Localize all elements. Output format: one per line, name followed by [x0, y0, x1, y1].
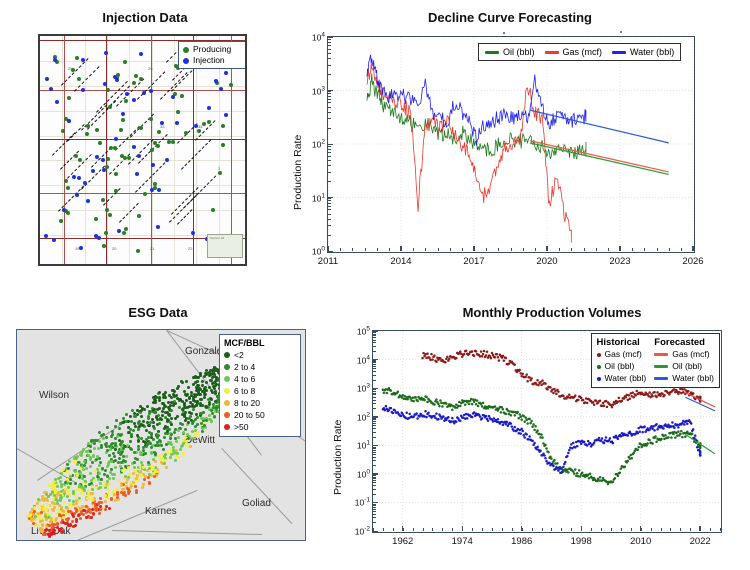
esg-well-dot [68, 524, 71, 527]
producing-well-marker [132, 81, 136, 85]
legend-label-producing: Producing [193, 44, 231, 55]
esg-well-dot [187, 421, 190, 424]
x-axis-minor-tick [512, 528, 513, 531]
legend-item-water: Water (bbl) [612, 47, 674, 57]
y-axis-minor-tick [373, 437, 376, 438]
x-axis-minor-tick [401, 248, 402, 251]
esg-well-dot [158, 422, 161, 425]
y-axis-minor-tick [373, 394, 376, 395]
x-axis-minor-tick [532, 528, 533, 531]
esg-well-dot [36, 524, 39, 527]
esg-well-dot [107, 492, 110, 495]
y-axis-minor-tick [373, 335, 376, 336]
x-axis-minor-tick [621, 528, 622, 531]
county-boundary-line [221, 448, 292, 524]
esg-well-dot [134, 485, 137, 488]
producing-well-marker [66, 186, 70, 190]
esg-well-dot [175, 440, 178, 443]
producing-well-marker [124, 227, 128, 231]
x-axis-minor-tick [657, 248, 658, 251]
esg-well-dot [104, 500, 107, 503]
y-axis-minor-tick [328, 165, 331, 166]
y-axis-minor-tick [373, 389, 376, 390]
esg-well-dot [116, 491, 119, 494]
esg-well-dot [89, 465, 92, 468]
producing-well-marker [105, 165, 109, 169]
esg-well-dot [171, 389, 174, 392]
esg-well-dot [69, 475, 72, 478]
injection-well-marker [194, 124, 198, 128]
esg-well-dot [210, 420, 213, 423]
producing-well-marker [114, 172, 118, 176]
esg-legend-rows: <22 to 44 to 66 to 88 to 2020 to 50>50 [224, 349, 296, 433]
esg-well-dot [130, 433, 133, 436]
decline-y-axis-label: Production Rate [292, 135, 304, 210]
x-axis-minor-tick [620, 248, 621, 251]
esg-well-dot [169, 421, 172, 424]
esg-legend-item-3: 6 to 8 [224, 385, 296, 397]
esg-bin-marker-icon [224, 424, 230, 430]
x-axis-minor-tick [641, 528, 642, 531]
map-faint-line [40, 86, 245, 87]
y-axis-minor-tick [328, 219, 331, 220]
esg-well-dot [114, 444, 117, 447]
esg-well-dot [51, 531, 54, 534]
legend-label-historical-gas: Gas (mcf) [605, 349, 642, 360]
esg-well-dot [79, 499, 82, 502]
y-axis-minor-tick [328, 206, 331, 207]
esg-well-dot [71, 520, 74, 523]
injection-map-inset: Section 22 [207, 234, 243, 258]
monthly-y-axis-label: Production Rate [332, 420, 344, 495]
map-faint-line [85, 36, 86, 264]
producing-well-marker [74, 154, 78, 158]
y-axis-minor-tick [373, 380, 376, 381]
y-axis-minor-tick [328, 112, 331, 113]
y-axis-minor-tick [373, 351, 376, 352]
esg-well-dot [139, 451, 142, 454]
fracture-trace [116, 78, 144, 106]
producing-well-marker [114, 189, 118, 193]
producing-well-marker [106, 88, 110, 92]
y-axis-minor-tick [328, 42, 331, 43]
esg-well-dot [192, 376, 195, 379]
esg-well-dot [122, 447, 125, 450]
esg-well-dot [148, 441, 151, 444]
esg-well-dot [179, 448, 182, 451]
esg-well-dot [79, 517, 82, 520]
y-axis-minor-tick [373, 502, 376, 503]
esg-well-dot [104, 494, 107, 497]
x-axis-minor-tick [611, 528, 612, 531]
esg-well-dot [124, 465, 127, 468]
historical-gas-dot-icon [597, 353, 601, 357]
legend-label-historical-oil: Oil (bbl) [605, 361, 635, 372]
y-axis-tick-label: 101 [357, 440, 370, 451]
producing-well-marker [136, 249, 140, 253]
esg-well-dot [144, 452, 147, 455]
speck-decoration-b [620, 31, 622, 33]
esg-well-dot [173, 400, 176, 403]
y-axis-minor-tick [373, 447, 376, 448]
esg-well-dot [128, 473, 131, 476]
esg-well-dot [89, 472, 92, 475]
producing-well-marker [101, 198, 105, 202]
x-axis-minor-tick [442, 528, 443, 531]
esg-well-dot [98, 440, 101, 443]
esg-well-dot [66, 470, 69, 473]
y-axis-tick-label: 103 [312, 85, 325, 96]
x-axis-minor-tick [601, 528, 602, 531]
y-axis-tick-label: 10-1 [355, 497, 370, 508]
esg-well-dot [147, 461, 150, 464]
esg-well-dot [173, 431, 176, 434]
historical-oil-dot-icon [597, 365, 601, 369]
forecast-oil-line-icon [654, 365, 668, 368]
producing-well-marker [156, 144, 160, 148]
esg-well-dot [131, 409, 134, 412]
producing-well-marker [134, 74, 138, 78]
esg-legend-item-5: 20 to 50 [224, 409, 296, 421]
esg-well-dot [110, 468, 113, 471]
y-axis-minor-tick [328, 172, 331, 173]
y-axis-minor-tick [328, 53, 331, 54]
esg-well-dot [43, 491, 46, 494]
decline-plot-area[interactable]: Oil (bbl) Gas (mcf) Water (bbl) 10010110… [327, 36, 695, 253]
y-axis-minor-tick [373, 452, 376, 453]
esg-well-dot [147, 476, 150, 479]
x-axis-minor-tick [365, 248, 366, 251]
x-axis-tick-label: 2026 [682, 256, 703, 267]
x-axis-tick-label: 2022 [690, 536, 711, 547]
y-axis-tick-label: 101 [312, 192, 325, 203]
esg-map[interactable]: GonzalesWilsonDeWittKarnesGoliadLive Oak… [16, 329, 306, 541]
esg-well-dot [129, 415, 132, 418]
esg-bin-label: 6 to 8 [234, 385, 255, 397]
injection-well-marker [103, 82, 107, 86]
x-axis-minor-tick [571, 248, 572, 251]
map-faint-line [174, 36, 175, 264]
y-axis-minor-tick [373, 393, 376, 394]
esg-well-dot [158, 399, 161, 402]
esg-well-dot [82, 448, 85, 451]
esg-well-dot [74, 482, 77, 485]
y-axis-minor-tick [373, 423, 376, 424]
injection-well-marker [165, 158, 169, 162]
x-axis-minor-tick [631, 528, 632, 531]
esg-well-dot [153, 451, 156, 454]
injection-well-marker [142, 91, 146, 95]
esg-well-dot [115, 419, 118, 422]
x-axis-minor-tick [413, 528, 414, 531]
esg-well-dot [132, 429, 135, 432]
esg-well-dot [107, 488, 110, 491]
legend-label-forecast-gas: Gas (mcf) [672, 349, 709, 360]
esg-well-dot [98, 512, 101, 515]
esg-well-dot [92, 454, 95, 457]
producing-well-marker [176, 110, 180, 114]
producing-well-marker [71, 68, 75, 72]
injection-well-marker [67, 119, 71, 123]
historical-water-dot-icon [597, 377, 601, 381]
x-axis-minor-tick [571, 528, 572, 531]
esg-well-dot [158, 396, 161, 399]
producing-well-marker [123, 60, 127, 64]
y-axis-minor-tick [328, 102, 331, 103]
y-axis-tick-mark [328, 37, 333, 38]
esg-well-dot [165, 466, 168, 469]
esg-well-dot [170, 409, 173, 412]
producing-well-marker [180, 94, 184, 98]
producing-well-marker [77, 77, 81, 81]
esg-well-dot [67, 486, 70, 489]
y-axis-minor-tick [373, 362, 376, 363]
injection-map-legend: Producing Injection [178, 41, 247, 69]
esg-well-dot [100, 446, 103, 449]
y-axis-minor-tick [328, 39, 331, 40]
monthly-panel-title: Monthly Production Volumes [336, 305, 750, 320]
esg-well-dot [99, 482, 102, 485]
esg-well-dot [211, 376, 214, 379]
esg-well-dot [198, 387, 201, 390]
esg-well-dot [186, 433, 189, 436]
injection-map[interactable]: 25293334219202122 Producing Injection Se… [38, 34, 247, 266]
injection-well-marker [86, 199, 90, 203]
producing-well-marker [211, 208, 215, 212]
esg-well-dot [67, 510, 70, 513]
esg-well-dot [192, 408, 195, 411]
y-axis-tick-label: 104 [357, 354, 370, 365]
esg-well-dot [90, 516, 93, 519]
esg-well-dot [125, 481, 128, 484]
x-axis-minor-tick [393, 528, 394, 531]
esg-well-dot [148, 482, 151, 485]
producing-well-marker [153, 186, 157, 190]
y-axis-minor-tick [328, 146, 331, 147]
esg-well-dot [83, 486, 86, 489]
x-axis-minor-tick [383, 528, 384, 531]
esg-well-dot [203, 375, 206, 378]
esg-well-dot [113, 455, 116, 458]
producing-well-marker [173, 92, 177, 96]
esg-well-dot [133, 461, 136, 464]
esg-well-dot [118, 457, 121, 460]
monthly-plot-area[interactable]: Historical Gas (mcf) Oil (bbl) Water (bb… [372, 330, 722, 533]
x-axis-tick-label: 1986 [511, 536, 532, 547]
injection-well-marker [55, 100, 59, 104]
esg-well-dot [117, 479, 120, 482]
esg-well-dot [192, 396, 195, 399]
y-axis-minor-tick [373, 391, 376, 392]
y-axis-minor-tick [373, 509, 376, 510]
esg-well-dot [129, 486, 132, 489]
esg-well-dot [108, 507, 111, 510]
esg-well-dot [170, 417, 173, 420]
x-axis-minor-tick [423, 528, 424, 531]
injection-well-marker [114, 137, 118, 141]
injection-marker-icon [183, 58, 189, 64]
injection-well-marker [94, 234, 98, 238]
esg-well-dot [157, 434, 160, 437]
x-axis-minor-tick [632, 248, 633, 251]
esg-data-panel: ESG Data GonzalesWilsonDeWittKarnesGolia… [8, 305, 308, 560]
esg-well-dot [104, 469, 107, 472]
esg-well-dot [84, 480, 87, 483]
esg-well-dot [69, 478, 72, 481]
esg-well-dot [160, 457, 163, 460]
esg-well-dot [137, 428, 140, 431]
esg-bin-marker-icon [224, 400, 230, 406]
y-axis-minor-tick [328, 65, 331, 66]
injection-well-marker [135, 172, 139, 176]
producing-well-marker [109, 146, 113, 150]
x-axis-minor-tick [584, 248, 585, 251]
y-axis-minor-tick [328, 181, 331, 182]
esg-well-dot [202, 411, 205, 414]
legend-item-forecast-gas: Gas (mcf) [654, 349, 714, 360]
esg-bin-marker-icon [224, 412, 230, 418]
injection-well-marker [149, 89, 153, 93]
esg-well-dot [59, 499, 62, 502]
esg-bin-marker-icon [224, 376, 230, 382]
esg-well-dot [101, 467, 104, 470]
section-number: 2 [218, 166, 220, 171]
y-axis-minor-tick [328, 144, 331, 145]
esg-well-dot [162, 448, 165, 451]
x-axis-minor-tick [352, 248, 353, 251]
injection-well-marker [224, 113, 228, 117]
esg-well-dot [187, 386, 190, 389]
producing-marker-icon [183, 47, 189, 53]
producing-well-marker [139, 77, 143, 81]
esg-well-dot [126, 478, 129, 481]
esg-well-dot [164, 391, 167, 394]
y-axis-minor-tick [373, 475, 376, 476]
esg-well-dot [68, 460, 71, 463]
esg-well-dot [149, 421, 152, 424]
producing-well-marker [94, 217, 98, 221]
x-axis-minor-tick [644, 248, 645, 251]
esg-well-dot [156, 441, 159, 444]
legend-item-gas: Gas (mcf) [545, 47, 603, 57]
x-axis-minor-tick [373, 528, 374, 531]
esg-well-dot [36, 502, 39, 505]
esg-well-dot [199, 393, 202, 396]
x-axis-minor-tick [710, 528, 711, 531]
y-axis-minor-tick [373, 421, 376, 422]
producing-well-marker [218, 171, 222, 175]
county-label-karnes: Karnes [145, 506, 177, 517]
esg-well-dot [143, 478, 146, 481]
county-label-wilson: Wilson [39, 390, 69, 401]
esg-bin-marker-icon [224, 388, 230, 394]
producing-well-marker [124, 99, 128, 103]
esg-well-dot [132, 472, 135, 475]
x-axis-minor-tick [596, 248, 597, 251]
x-axis-tick-label: 2011 [318, 256, 338, 267]
esg-well-dot [85, 467, 88, 470]
esg-well-dot [141, 424, 144, 427]
producing-well-marker [229, 83, 233, 87]
y-axis-minor-tick [373, 419, 376, 420]
legend-header-historical: Historical [597, 337, 647, 348]
y-axis-minor-tick [328, 225, 331, 226]
esg-well-dot [39, 529, 42, 532]
x-axis-minor-tick [608, 248, 609, 251]
y-axis-minor-tick [328, 214, 331, 215]
y-axis-minor-tick [373, 460, 376, 461]
esg-well-dot [215, 407, 218, 410]
producing-well-marker [143, 192, 147, 196]
x-axis-minor-tick [377, 248, 378, 251]
injection-panel-title: Injection Data [20, 10, 270, 25]
esg-well-dot [119, 443, 122, 446]
x-axis-minor-tick [450, 248, 451, 251]
y-axis-minor-tick [373, 425, 376, 426]
y-axis-minor-tick [328, 96, 331, 97]
injection-well-marker [132, 145, 136, 149]
y-axis-minor-tick [373, 485, 376, 486]
injection-well-marker [157, 188, 161, 192]
injection-data-panel: Injection Data 25293334219202122 Produci… [20, 10, 270, 275]
esg-well-dot [108, 477, 111, 480]
esg-well-dot [63, 490, 66, 493]
y-axis-tick-label: 100 [312, 246, 325, 257]
y-axis-minor-tick [373, 454, 376, 455]
y-axis-tick-label: 104 [312, 32, 325, 43]
y-axis-minor-tick [373, 428, 376, 429]
producing-well-marker [116, 73, 120, 77]
esg-well-dot [51, 491, 54, 494]
x-axis-minor-tick [413, 248, 414, 251]
y-axis-minor-tick [373, 418, 376, 419]
esg-well-dot [169, 456, 172, 459]
esg-well-dot [188, 417, 191, 420]
esg-well-dot [148, 473, 151, 476]
section-line-vertical [231, 36, 232, 264]
x-axis-minor-tick [661, 528, 662, 531]
legend-label-oil: Oil (bbl) [503, 47, 535, 57]
esg-well-dot [91, 461, 94, 464]
monthly-chart-legend: Historical Gas (mcf) Oil (bbl) Water (bb… [591, 333, 720, 388]
section-number: 20 [112, 246, 116, 251]
y-axis-minor-tick [373, 448, 376, 449]
esg-well-dot [177, 456, 180, 459]
esg-well-dot [37, 512, 40, 515]
y-axis-tick-label: 102 [312, 139, 325, 150]
x-axis-minor-tick [403, 528, 404, 531]
esg-well-dot [150, 446, 153, 449]
y-axis-minor-tick [373, 417, 376, 418]
decline-curve-panel: Decline Curve Forecasting Production Rat… [280, 10, 740, 280]
producing-well-marker [149, 117, 153, 121]
injection-well-marker [72, 175, 76, 179]
esg-well-dot [119, 465, 122, 468]
esg-well-dot [76, 463, 79, 466]
esg-well-dot [141, 486, 144, 489]
y-axis-minor-tick [373, 517, 376, 518]
map-faint-line [196, 36, 197, 264]
injection-well-marker [132, 98, 136, 102]
map-faint-line [40, 160, 245, 161]
x-axis-minor-tick [462, 248, 463, 251]
legend-item-historical-water: Water (bbl) [597, 373, 647, 384]
x-axis-minor-tick [591, 528, 592, 531]
legend-item-historical-oil: Oil (bbl) [597, 361, 647, 372]
x-axis-minor-tick [432, 528, 433, 531]
esg-well-dot [154, 470, 157, 473]
y-axis-minor-tick [328, 235, 331, 236]
